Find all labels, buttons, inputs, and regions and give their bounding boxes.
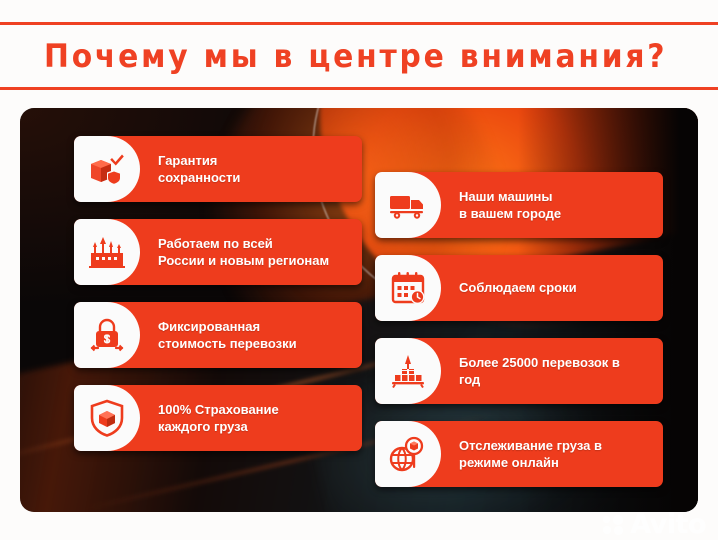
feature-card-label: Фиксированная стоимость перевозки (140, 318, 362, 352)
feature-line-2: сохранности (158, 169, 352, 186)
feature-line-2: в вашем городе (459, 205, 653, 222)
avito-watermark: Avito (603, 511, 706, 538)
feature-line-2: год (459, 371, 653, 388)
feature-card-volume[interactable]: Более 25000 перевозок в год (375, 338, 663, 404)
feature-card-label: Наши машины в вашем городе (441, 188, 663, 222)
feature-line-1: Работаем по всей (158, 235, 352, 252)
feature-line-1: Отслеживание груза в (459, 437, 653, 454)
feature-card-coverage[interactable]: Работаем по всей России и новым регионам (74, 219, 362, 285)
feature-card-label: Отслеживание груза в режиме онлайн (441, 437, 663, 471)
box-shield-check-icon (74, 136, 140, 202)
feature-line-1: 100% Страхование (158, 401, 352, 418)
feature-card-label: Работаем по всей России и новым регионам (140, 235, 362, 269)
feature-line-2: каждого груза (158, 418, 352, 435)
cargo-stack-icon (375, 338, 441, 404)
feature-line-2: стоимость перевозки (158, 335, 352, 352)
avito-logo-icon (603, 515, 625, 535)
poster-root: Почему мы в центре внимания? (0, 0, 718, 540)
avito-watermark-label: Avito (630, 511, 706, 538)
feature-card-label: Гарантия сохранности (140, 152, 362, 186)
header-band: Почему мы в центре внимания? (0, 22, 718, 90)
truck-icon (375, 172, 441, 238)
feature-card-deadlines[interactable]: Соблюдаем сроки (375, 255, 663, 321)
feature-card-label: Соблюдаем сроки (441, 279, 663, 296)
kremlin-icon (74, 219, 140, 285)
shield-cube-icon (74, 385, 140, 451)
feature-card-label: Более 25000 перевозок в год (441, 354, 663, 388)
feature-card-fixed-price[interactable]: Фиксированная стоимость перевозки (74, 302, 362, 368)
feature-card-insurance[interactable]: 100% Страхование каждого груза (74, 385, 362, 451)
feature-line-1: Соблюдаем сроки (459, 279, 653, 296)
globe-search-icon (375, 421, 441, 487)
feature-line-1: Более 25000 перевозок в (459, 354, 653, 371)
feature-card-local-trucks[interactable]: Наши машины в вашем городе (375, 172, 663, 238)
feature-line-2: России и новым регионам (158, 252, 352, 269)
calendar-clock-icon (375, 255, 441, 321)
padlock-dollar-icon (74, 302, 140, 368)
feature-line-1: Гарантия (158, 152, 352, 169)
page-title: Почему мы в центре внимания? (44, 40, 667, 72)
feature-card-label: 100% Страхование каждого груза (140, 401, 362, 435)
feature-line-1: Фиксированная (158, 318, 352, 335)
feature-line-2: режиме онлайн (459, 454, 653, 471)
feature-card-guarantee[interactable]: Гарантия сохранности (74, 136, 362, 202)
features-panel: Гарантия сохранности (20, 108, 698, 512)
feature-line-1: Наши машины (459, 188, 653, 205)
feature-card-tracking[interactable]: Отслеживание груза в режиме онлайн (375, 421, 663, 487)
